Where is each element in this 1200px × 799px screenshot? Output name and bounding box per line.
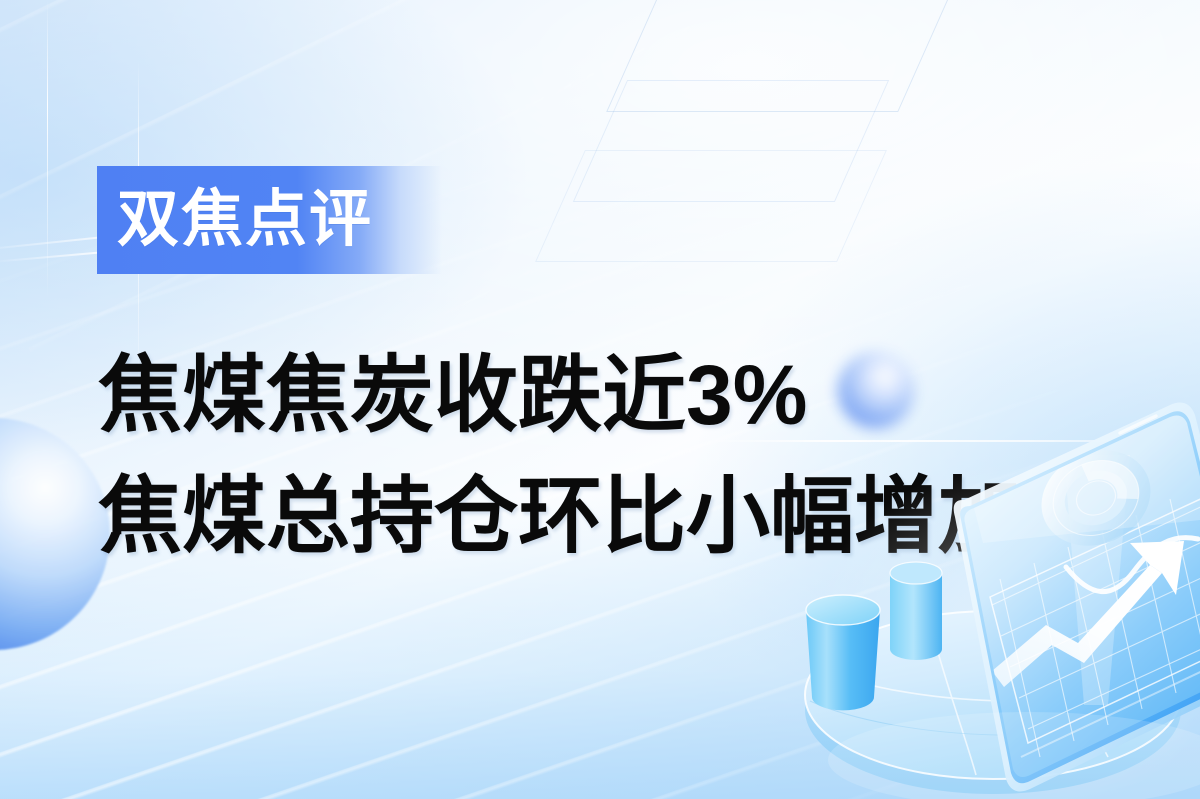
section-badge: 双焦点评	[97, 166, 442, 274]
poster-canvas: 双焦点评 焦煤焦炭收跌近3% 焦煤总持仓环比小幅增加	[0, 0, 1200, 799]
headline-block: 焦煤焦炭收跌近3% 焦煤总持仓环比小幅增加	[98, 335, 1098, 577]
section-badge-label: 双焦点评	[97, 189, 373, 251]
headline-line-1: 焦煤焦炭收跌近3%	[98, 335, 1098, 456]
headline-line-2: 焦煤总持仓环比小幅增加	[98, 456, 1098, 577]
